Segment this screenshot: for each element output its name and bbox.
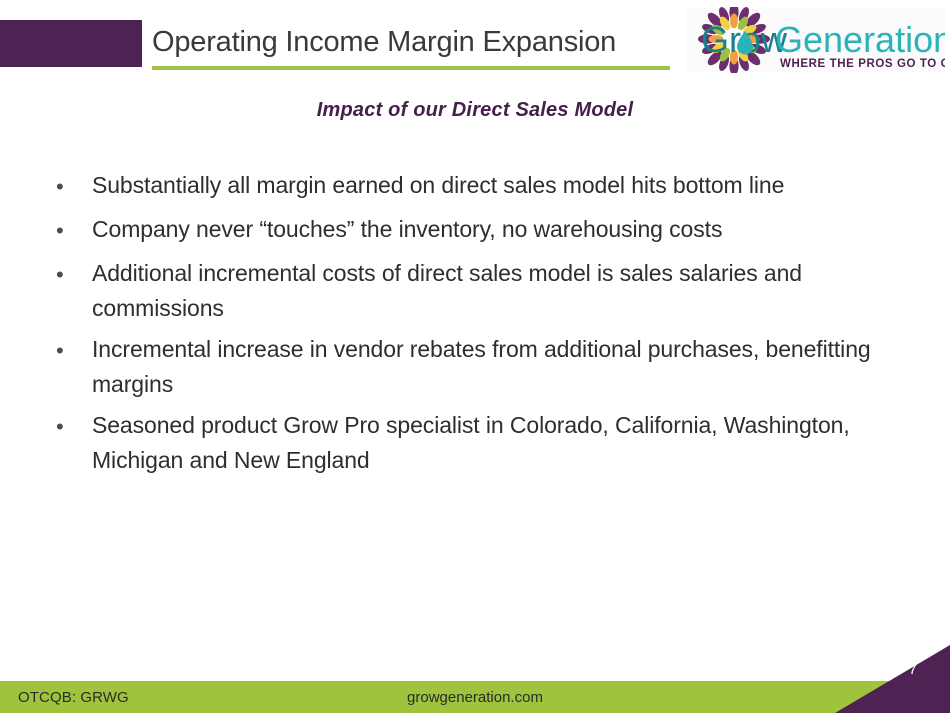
list-item-text: Seasoned product Grow Pro specialist in … bbox=[92, 408, 890, 478]
page-title: Operating Income Margin Expansion bbox=[152, 20, 682, 64]
list-item-text: Additional incremental costs of direct s… bbox=[92, 256, 890, 326]
list-item: • Seasoned product Grow Pro specialist i… bbox=[50, 408, 890, 478]
bullet-marker-icon: • bbox=[50, 212, 92, 250]
list-item-text: Incremental increase in vendor rebates f… bbox=[92, 332, 890, 402]
bullet-marker-icon: • bbox=[50, 256, 92, 294]
title-underline-rule bbox=[152, 66, 670, 70]
bullet-marker-icon: • bbox=[50, 408, 92, 446]
page-number: 7 bbox=[909, 662, 917, 681]
list-item: • Substantially all margin earned on dir… bbox=[50, 168, 890, 206]
list-item: • Additional incremental costs of direct… bbox=[50, 256, 890, 326]
bullet-list: • Substantially all margin earned on dir… bbox=[50, 168, 890, 484]
bullet-marker-icon: • bbox=[50, 168, 92, 206]
logo-word-generation: Generation bbox=[775, 19, 945, 60]
growgeneration-logo: Grow Generation WHERE THE PROS GO TO GRO… bbox=[687, 7, 945, 73]
logo-artwork: Grow Generation WHERE THE PROS GO TO GRO… bbox=[687, 7, 945, 73]
footer-website: growgeneration.com bbox=[0, 681, 950, 713]
list-item: • Company never “touches” the inventory,… bbox=[50, 212, 890, 250]
list-item: • Incremental increase in vendor rebates… bbox=[50, 332, 890, 402]
list-item-text: Substantially all margin earned on direc… bbox=[92, 168, 890, 203]
slide-canvas: Operating Income Margin Expansion bbox=[0, 0, 950, 713]
logo-tagline: WHERE THE PROS GO TO GROW bbox=[780, 58, 945, 70]
header-accent-block bbox=[0, 20, 142, 67]
slide-subtitle: Impact of our Direct Sales Model bbox=[0, 99, 950, 122]
list-item-text: Company never “touches” the inventory, n… bbox=[92, 212, 890, 247]
bullet-marker-icon: • bbox=[50, 332, 92, 370]
